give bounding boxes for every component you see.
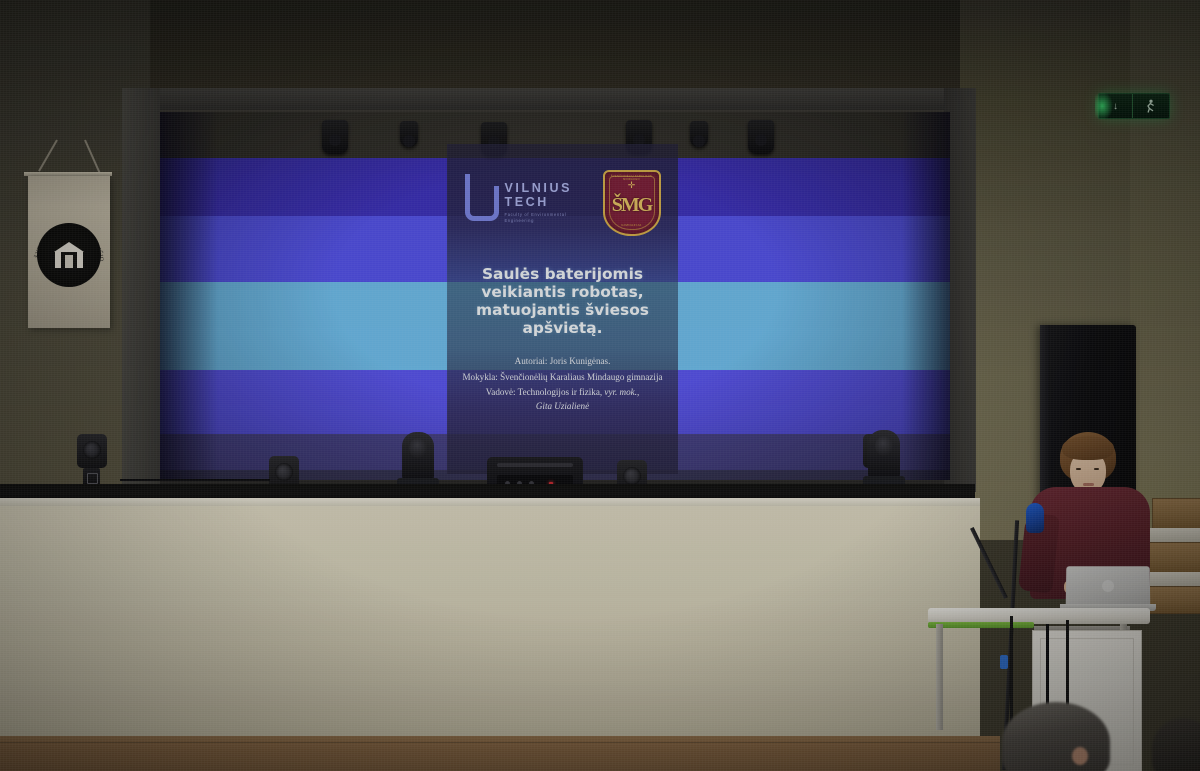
vilnius-tech-mark-icon: [465, 186, 499, 221]
slide-author-row: Autoriai: Joris Kunigėnas.: [455, 355, 671, 367]
vilnius-tech-line1: VILNIUS: [505, 182, 589, 195]
crest-bottom-text: GIMNAZIJA: [605, 223, 659, 227]
slide-supervisor-label: Vadovė:: [486, 387, 516, 397]
presentation-hall-photo: ↓ ŠVENČIONIŲ ZIGMO ŽEMAIČIO GIMNAZIJA: [0, 0, 1200, 771]
projected-slide: VILNIUS TECH Faculty of Environmental En…: [447, 144, 678, 474]
par-light-left: [76, 434, 108, 490]
floor-seam: [0, 742, 1000, 743]
slide-school-value: Švenčionėlių Karaliaus Mindaugo gimnazij…: [500, 372, 662, 382]
desk-leg-left: [936, 624, 943, 730]
vilnius-tech-subtitle: Faculty of Environmental Engineering: [505, 212, 589, 224]
truss-light-5: [690, 121, 708, 147]
slide-logo-row: VILNIUS TECH Faculty of Environmental En…: [447, 170, 678, 236]
slide-supervisor-row: Vadovė: Technologijos ir fizika, vyr. mo…: [455, 386, 671, 412]
slide-author-value: Joris Kunigėnas.: [550, 356, 611, 366]
stage-cable-1: [120, 478, 270, 481]
riser-step-1: [1148, 528, 1200, 542]
wooden-riser-2: [1146, 542, 1200, 574]
exit-runner-icon: [1132, 94, 1166, 118]
banner-emblem-icon: [37, 223, 101, 287]
crest-cross-icon: ✛: [628, 181, 636, 190]
microphone-head: [1026, 503, 1044, 533]
truss-light-6: [748, 120, 774, 154]
wooden-riser-1: [1152, 498, 1200, 530]
proscenium-top-beam: [122, 88, 974, 110]
slide-school-label: Mokykla:: [462, 372, 497, 382]
vilnius-tech-line2: TECH: [505, 196, 589, 209]
vilnius-tech-logo: VILNIUS TECH Faculty of Environmental En…: [465, 182, 589, 224]
slide-metadata: Autoriai: Joris Kunigėnas. Mokykla: Šven…: [455, 355, 671, 415]
presenter-eye-left: [1076, 468, 1081, 470]
audience-ear: [1072, 747, 1088, 765]
exit-sign-glow: [1095, 92, 1113, 120]
slide-school-row: Mokykla: Švenčionėlių Karaliaus Mindaugo…: [455, 371, 671, 383]
slide-title: Saulės baterijomis veikiantis robotas, m…: [460, 266, 666, 337]
slide-supervisor-rank: vyr. mok.,: [604, 387, 639, 397]
slide-supervisor-subject: Technologijos ir fizika,: [518, 387, 602, 397]
desk-green-trim: [928, 622, 1034, 628]
slide-supervisor-name: Gita Uzialienė: [455, 400, 671, 412]
gate-icon: [54, 242, 84, 268]
proscenium-left-pillar: [122, 88, 160, 492]
emergency-exit-sign: ↓: [1098, 93, 1170, 119]
slide-author-label: Autoriai:: [515, 356, 548, 366]
school-banner: ŠVENČIONIŲ ZIGMO ŽEMAIČIO GIMNAZIJA: [28, 176, 110, 328]
school-coat-of-arms: ŠVENČIONĖLIŲ KARALIAUS MINDAUGO ✛ ŠMG GI…: [603, 170, 661, 236]
presenter-mouth: [1083, 483, 1094, 486]
stage-apron: [0, 506, 980, 738]
amplifier-handle: [497, 463, 573, 467]
truss-light-2: [400, 121, 418, 147]
laptop-logo-icon: [1102, 580, 1114, 592]
presenter-eye-right: [1094, 468, 1099, 470]
presenter-fringe: [1062, 436, 1114, 460]
truss-light-1: [322, 120, 348, 154]
mic-cable-clip: [1000, 655, 1008, 669]
vilnius-tech-wordmark: VILNIUS TECH Faculty of Environmental En…: [505, 182, 589, 224]
